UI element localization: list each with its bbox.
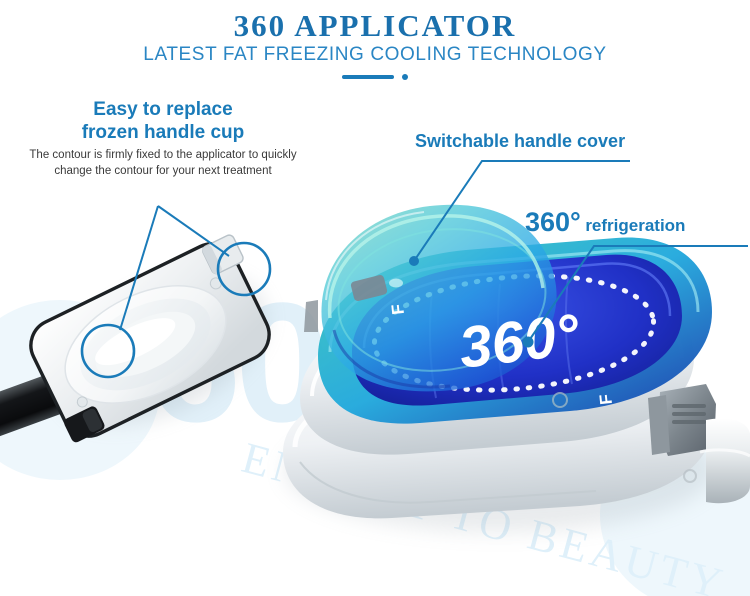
leader-dot-refrigeration xyxy=(523,337,534,348)
leader-left-branch-a xyxy=(120,206,158,330)
page-subtitle: LATEST FAT FREEZING COOLING TECHNOLOGY xyxy=(0,44,750,66)
page-title: 360 APPLICATOR xyxy=(0,8,750,44)
callout-easy-to-replace-body: The contour is firmly fixed to the appli… xyxy=(26,147,300,179)
promo-banner: 360 ENERGY TO BEAUTY xyxy=(0,0,750,596)
leader-dot-switchable xyxy=(409,256,419,266)
highlight-circle-upper xyxy=(218,243,270,295)
callout-easy-line1: Easy to replace xyxy=(18,98,308,121)
highlight-circle-lower xyxy=(82,325,134,377)
leader-left-branch-b xyxy=(158,206,229,256)
callout-switchable-handle-cover-heading: Switchable handle cover xyxy=(415,131,625,152)
callout-easy-to-replace-heading: Easy to replace frozen handle cup xyxy=(18,98,308,144)
divider-dot xyxy=(402,74,408,80)
title-divider xyxy=(0,74,750,80)
callout-leader-lines xyxy=(0,0,750,596)
divider-bar xyxy=(342,75,394,79)
callout-easy-line2: frozen handle cup xyxy=(18,121,308,144)
callout-refrigeration-label: refrigeration xyxy=(585,216,685,235)
callout-refrigeration-value: 360° xyxy=(525,207,581,237)
callout-refrigeration: 360° refrigeration xyxy=(525,207,685,238)
leader-refrigeration xyxy=(528,246,748,342)
